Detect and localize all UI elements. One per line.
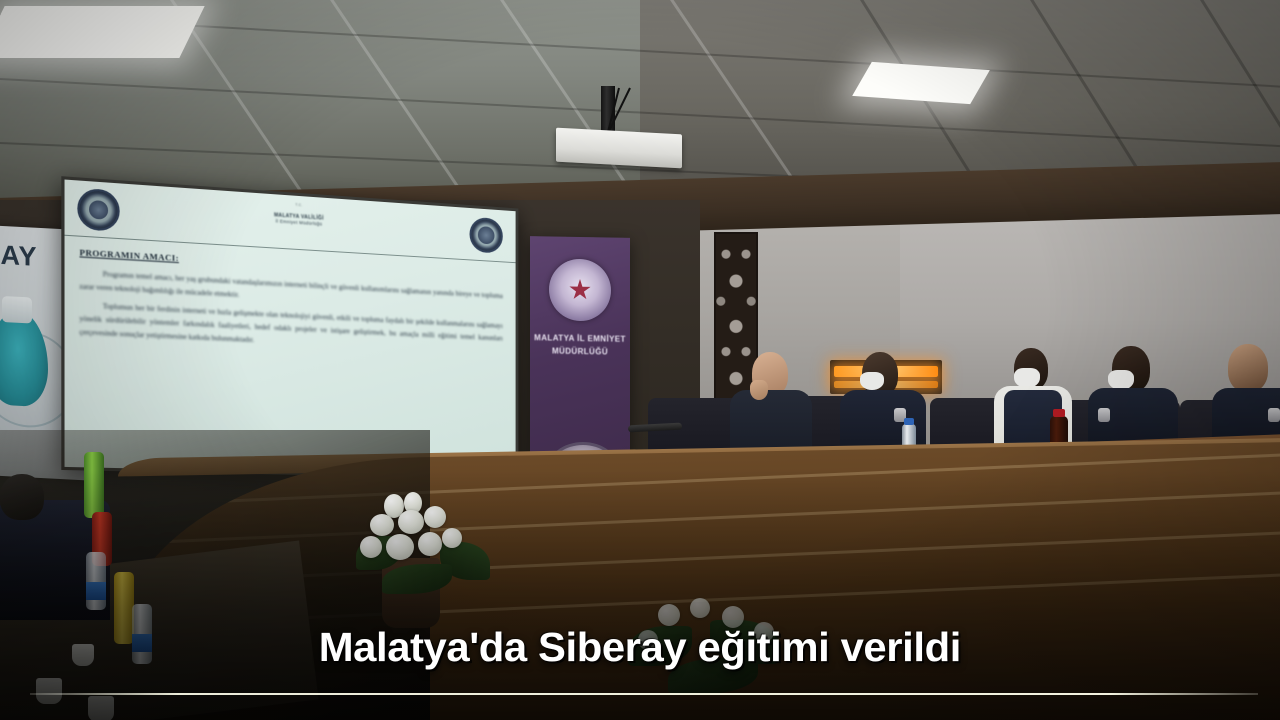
person-speaker bbox=[728, 352, 814, 462]
emniyet-banner-line2: MÜDÜRLÜĞÜ bbox=[530, 344, 630, 359]
flower-bloom bbox=[386, 534, 414, 560]
caption-bar: Malatya'da Siberay eğitimi verildi bbox=[0, 624, 1280, 670]
flower-bloom bbox=[442, 528, 462, 548]
uniform-badge bbox=[1098, 408, 1110, 422]
flower-bloom bbox=[690, 598, 710, 618]
bottle-label bbox=[86, 582, 106, 600]
flower-bloom bbox=[398, 510, 424, 534]
ceiling-light-left bbox=[0, 6, 205, 58]
police-emblem-icon bbox=[549, 258, 611, 321]
bottle-cap bbox=[1053, 409, 1065, 417]
paper-cup bbox=[36, 678, 62, 704]
caption-divider-rule bbox=[30, 693, 1258, 695]
emniyet-banner-title: MALATYA İL EMNİYET MÜDÜRLÜĞÜ bbox=[530, 331, 630, 359]
face-mask bbox=[860, 372, 884, 390]
flower-bloom bbox=[424, 506, 446, 528]
person-head bbox=[1228, 344, 1268, 392]
ceiling-projector bbox=[556, 128, 682, 169]
emniyet-banner-line1: MALATYA İL EMNİYET bbox=[530, 331, 630, 346]
video-frame: RAY T.C. MALATYA VALİLİĞİ İl Emniyet Müd… bbox=[0, 0, 1280, 720]
bottle-cap bbox=[904, 418, 914, 425]
siberay-banner-text: RAY bbox=[0, 239, 38, 273]
flower-bloom bbox=[658, 604, 680, 626]
flower-bloom bbox=[418, 532, 442, 556]
foreground-water-bottle bbox=[86, 552, 106, 610]
face-mask bbox=[1108, 370, 1134, 390]
caption-headline: Malatya'da Siberay eğitimi verildi bbox=[319, 624, 961, 670]
uniform-badge bbox=[1268, 408, 1280, 422]
slide-header-line3: İl Emniyet Müdürlüğü bbox=[65, 205, 516, 241]
siberay-mascot bbox=[0, 309, 48, 407]
face-mask bbox=[1014, 368, 1040, 388]
person-hand bbox=[750, 380, 768, 400]
foreground-bottle bbox=[84, 452, 104, 518]
paper-cup bbox=[88, 696, 114, 720]
flower-bloom bbox=[360, 536, 382, 558]
flower-bloom bbox=[370, 514, 394, 536]
ceiling-grid-line bbox=[330, 0, 500, 215]
person-head bbox=[0, 474, 44, 520]
